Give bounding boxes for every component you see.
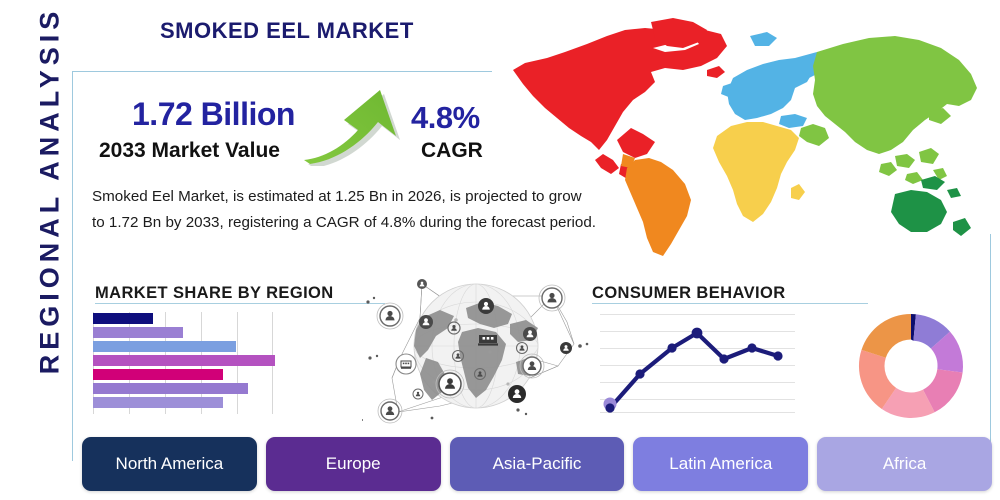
consumer-behavior-divider bbox=[592, 303, 868, 304]
infographic-root: REGIONAL ANALYSIS SMOKED EEL MARKET 1.72… bbox=[0, 0, 1000, 500]
market-share-divider bbox=[95, 303, 385, 304]
consumer-behavior-line-chart bbox=[600, 312, 795, 414]
table-row bbox=[93, 383, 248, 394]
region-tab-latin-america[interactable]: Latin America bbox=[633, 437, 808, 491]
table-row bbox=[93, 369, 223, 380]
table-row bbox=[93, 341, 236, 352]
vertical-section-label: REGIONAL ANALYSIS bbox=[35, 0, 66, 391]
cagr-label: CAGR bbox=[421, 139, 483, 163]
world-map-icon bbox=[495, 8, 995, 263]
table-row bbox=[93, 327, 183, 338]
consumer-behavior-heading: CONSUMER BEHAVIOR bbox=[592, 284, 786, 303]
consumer-segment-donut-chart bbox=[856, 311, 966, 421]
market-share-bar-chart bbox=[93, 312, 273, 414]
region-tab-label: Africa bbox=[883, 454, 926, 474]
cagr-figure: 4.8% bbox=[411, 100, 480, 136]
region-tab-europe[interactable]: Europe bbox=[266, 437, 441, 491]
region-tab-label: Asia-Pacific bbox=[493, 454, 582, 474]
frame-border-top bbox=[72, 71, 492, 72]
region-tab-north-america[interactable]: North America bbox=[82, 437, 257, 491]
table-row bbox=[93, 313, 153, 324]
region-tab-label: Europe bbox=[326, 454, 381, 474]
market-value-figure: 1.72 Billion bbox=[132, 96, 295, 133]
growth-arrow-icon bbox=[300, 84, 410, 166]
region-tab-africa[interactable]: Africa bbox=[817, 437, 992, 491]
table-row bbox=[93, 355, 275, 366]
table-row bbox=[93, 397, 223, 408]
region-tab-label: North America bbox=[116, 454, 224, 474]
frame-border-right bbox=[990, 234, 991, 462]
region-tabs: North America Europe Asia-Pacific Latin … bbox=[82, 437, 992, 491]
frame-border-left bbox=[72, 71, 73, 461]
region-tab-label: Latin America bbox=[669, 454, 772, 474]
global-network-globe-icon bbox=[362, 266, 590, 428]
region-tab-asia-pacific[interactable]: Asia-Pacific bbox=[450, 437, 625, 491]
market-value-label: 2033 Market Value bbox=[99, 139, 280, 163]
market-share-heading: MARKET SHARE BY REGION bbox=[95, 284, 334, 303]
page-title: SMOKED EEL MARKET bbox=[160, 18, 414, 44]
